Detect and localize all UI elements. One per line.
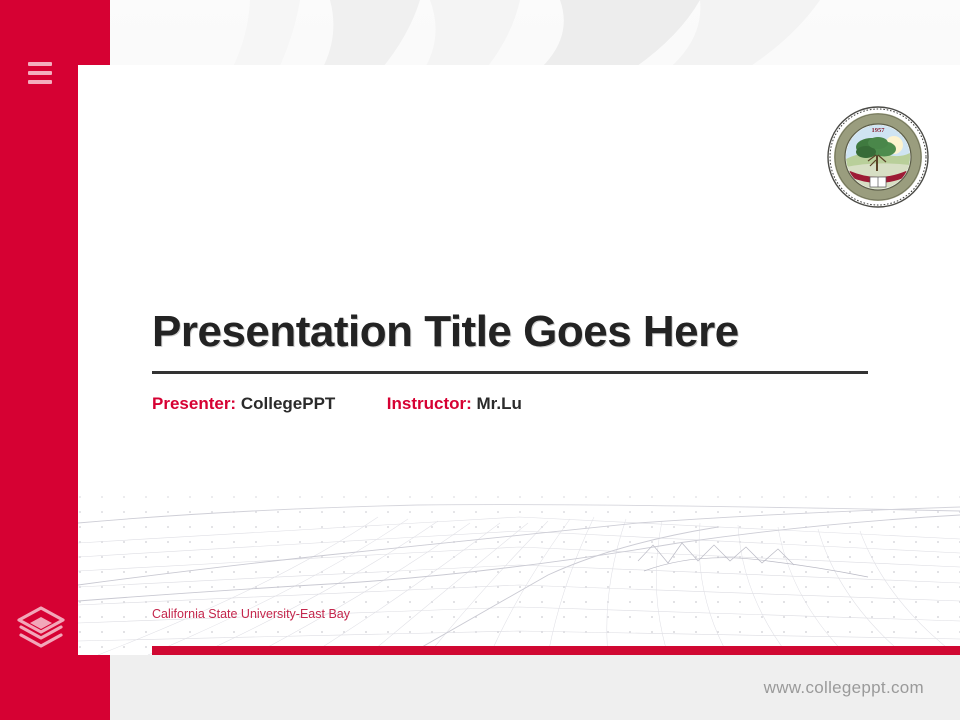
title-block: Presentation Title Goes Here Presenter: … (152, 309, 868, 414)
wireframe-mesh-graphic (78, 465, 960, 655)
layers-stack-icon[interactable] (16, 604, 66, 648)
footer-bar: www.collegeppt.com (110, 655, 960, 720)
presentation-screen: CALIFORNIA STATE UNIVERSITY EAST BAY (0, 0, 960, 720)
page-title: Presentation Title Goes Here (152, 309, 868, 355)
presenter-label: Presenter: (152, 394, 236, 413)
hamburger-menu-icon[interactable] (28, 62, 52, 84)
presenter-value: CollegePPT (241, 394, 335, 413)
slide-accent-bar (152, 646, 960, 655)
hamburger-bar (28, 62, 52, 66)
organization-name: California State University-East Bay (152, 607, 350, 621)
title-divider (152, 371, 868, 374)
slide-canvas: CALIFORNIA STATE UNIVERSITY EAST BAY (78, 65, 960, 655)
footer-url[interactable]: www.collegeppt.com (764, 678, 960, 698)
credits-line: Presenter: CollegePPT Instructor: Mr.Lu (152, 394, 868, 414)
instructor-value: Mr.Lu (477, 394, 522, 413)
california-state-university-east-bay-seal: CALIFORNIA STATE UNIVERSITY EAST BAY (826, 105, 930, 209)
hamburger-bar (28, 80, 52, 84)
instructor-label: Instructor: (387, 394, 472, 413)
seal-year: 1957 (872, 127, 886, 134)
hamburger-bar (28, 71, 52, 75)
